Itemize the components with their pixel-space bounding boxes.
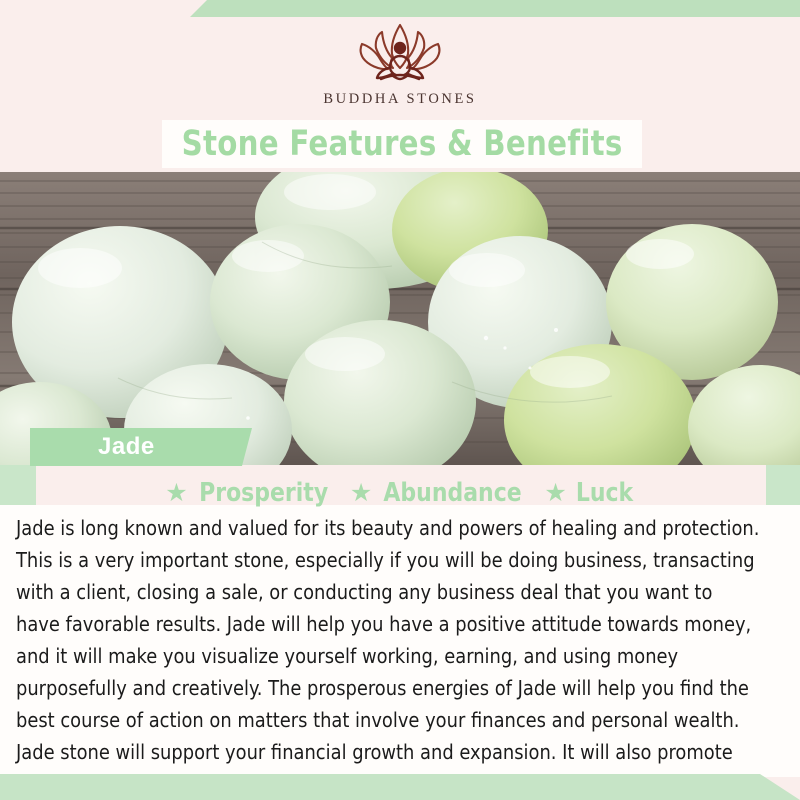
- benefits-row: ★ Prosperity ★ Abundance ★ Luck: [0, 478, 800, 508]
- lotus-meditating-figure-icon: [338, 18, 462, 88]
- brand-logo: BUDDHA STONES: [0, 18, 800, 108]
- benefit-label: Abundance: [384, 478, 522, 508]
- star-icon: ★: [350, 481, 372, 506]
- benefit-item-abundance: ★ Abundance: [350, 478, 527, 508]
- title-banner: Stone Features & Benefits: [162, 120, 642, 168]
- stone-name-tag: Jade: [30, 428, 252, 466]
- product-photo: [0, 172, 800, 465]
- product-info-card: BUDDHA STONES Stone Features & Benefits: [0, 0, 800, 800]
- stone-name-label: Jade: [98, 433, 155, 461]
- benefit-label: Luck: [576, 478, 633, 508]
- page-title: Stone Features & Benefits: [181, 124, 622, 164]
- brand-name: BUDDHA STONES: [323, 91, 476, 108]
- jade-stones-image: [0, 172, 800, 465]
- benefit-label: Prosperity: [199, 478, 328, 508]
- benefit-item-prosperity: ★ Prosperity: [165, 478, 332, 508]
- decor-bottom-green-band: [0, 774, 800, 800]
- decor-top-green-band: [190, 0, 800, 17]
- stone-description: Jade is long known and valued for its be…: [16, 512, 761, 800]
- star-icon: ★: [165, 481, 187, 506]
- benefit-item-luck: ★ Luck: [544, 478, 634, 508]
- star-icon: ★: [544, 481, 566, 506]
